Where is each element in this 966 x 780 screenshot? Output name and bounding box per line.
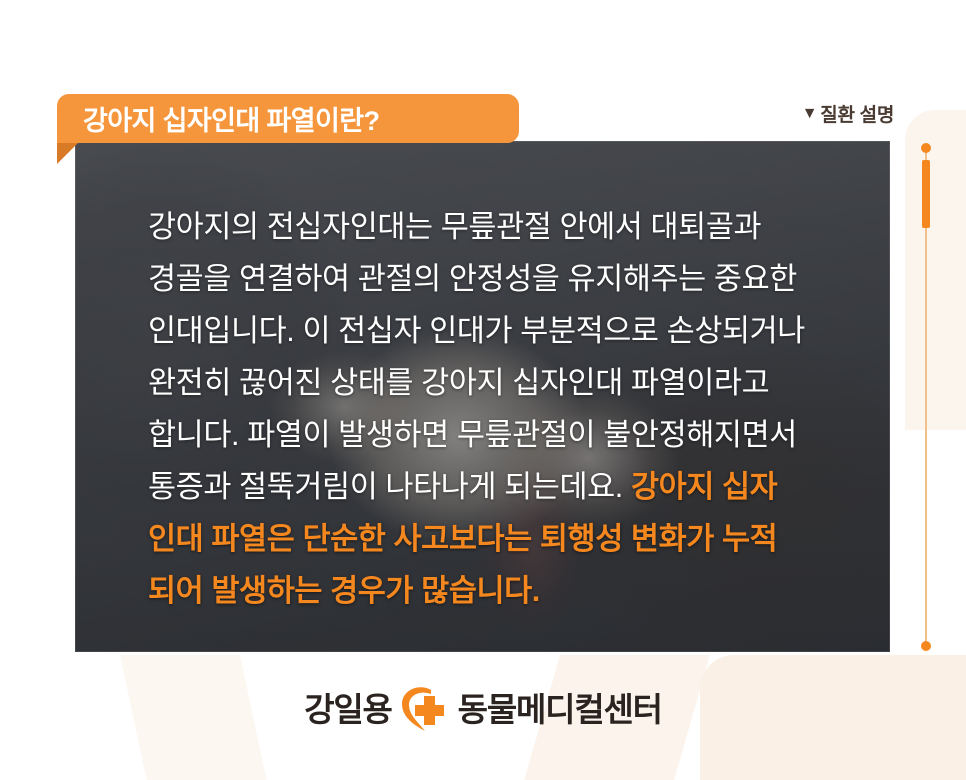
logo-text-right: 동물메디컬센터 xyxy=(458,693,662,726)
logo-text-left: 강일용 xyxy=(304,693,391,726)
scroll-indicator[interactable] xyxy=(924,143,928,651)
photo-panel: 강아지의 전십자인대는 무릎관절 안에서 대퇴골과 경골을 연결하여 관절의 안… xyxy=(75,141,890,652)
section-label: ▼ 질환 설명 xyxy=(802,100,894,127)
scrollbar-thumb[interactable] xyxy=(922,160,930,228)
title-banner-tail xyxy=(57,142,79,164)
heart-cross-icon xyxy=(398,686,452,732)
page-title: 강아지 십자인대 파열이란? xyxy=(83,99,379,138)
footer-logo: 강일용 동물메디컬센터 xyxy=(0,686,966,732)
background-watermark-shape-right xyxy=(905,110,966,430)
caret-down-icon: ▼ xyxy=(802,106,818,122)
section-label-text: 질환 설명 xyxy=(820,100,894,127)
title-banner: 강아지 십자인대 파열이란? xyxy=(57,94,519,143)
body-copy-plain: 강아지의 전십자인대는 무릎관절 안에서 대퇴골과 경골을 연결하여 관절의 안… xyxy=(148,210,805,504)
scrollbar-dot-bottom xyxy=(921,641,931,651)
infographic-card: ▼ 질환 설명 강아지의 전십자인대는 무릎관절 안에서 대퇴골과 경골을 연결… xyxy=(0,0,966,780)
body-copy: 강아지의 전십자인대는 무릎관절 안에서 대퇴골과 경골을 연결하여 관절의 안… xyxy=(148,201,858,617)
scrollbar-dot-top xyxy=(921,143,931,153)
